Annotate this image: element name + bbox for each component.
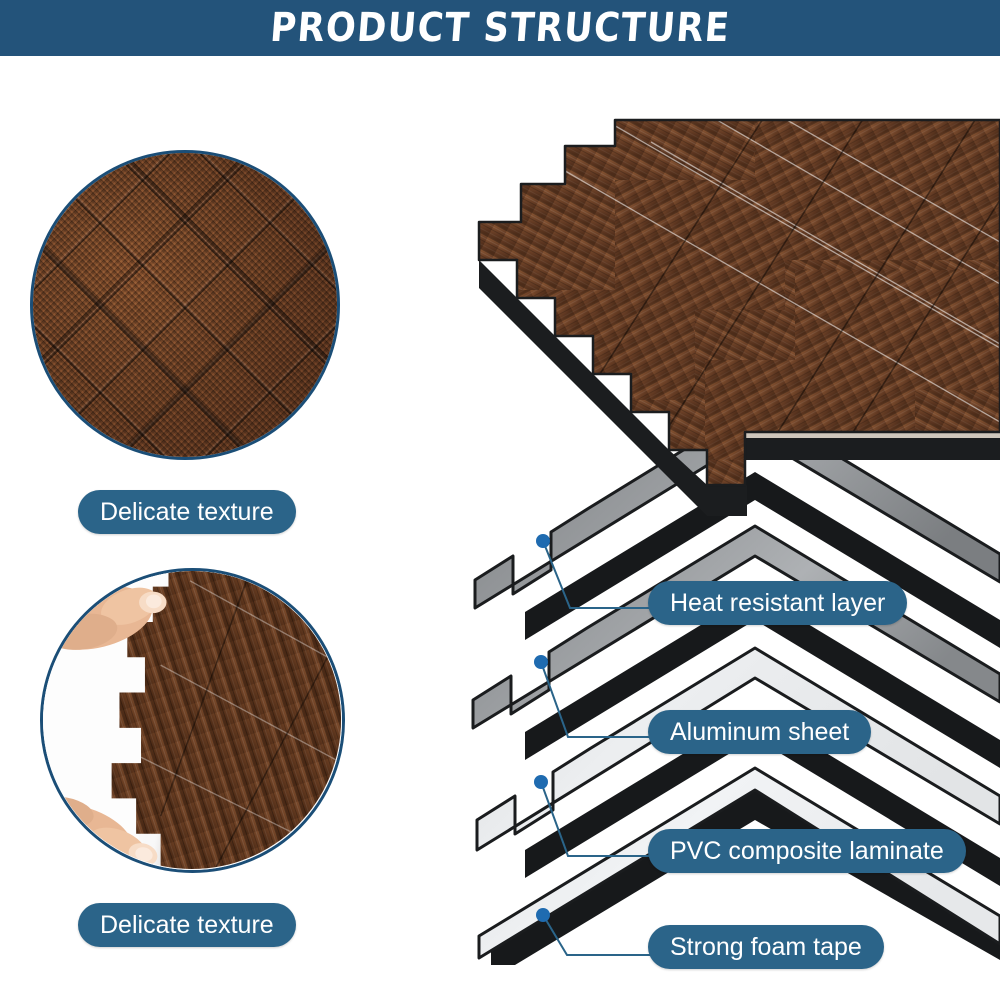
herringbone-parquet-texture-image: [30, 150, 340, 460]
peel-photo-image: [43, 571, 342, 870]
callout-heat-resistant-layer: Heat resistant layer: [648, 581, 907, 625]
feature-circle-texture: [30, 150, 340, 460]
layer-wear-wood: [455, 100, 1000, 520]
leader-dot-aluminum: [534, 655, 548, 669]
leader-dot-foam: [536, 908, 550, 922]
callout-pvc-composite-laminate: PVC composite laminate: [648, 829, 966, 873]
header-banner: PRODUCT STRUCTURE: [0, 0, 1000, 56]
page-title: PRODUCT STRUCTURE: [268, 5, 731, 51]
label-delicate-texture-top: Delicate texture: [78, 490, 296, 534]
label-delicate-texture-bottom: Delicate texture: [78, 903, 296, 947]
leader-dot-pvc: [534, 775, 548, 789]
feature-circle-peel: [40, 568, 345, 873]
leader-dot-heat: [536, 534, 550, 548]
callout-strong-foam-tape: Strong foam tape: [648, 925, 884, 969]
callout-aluminum-sheet: Aluminum sheet: [648, 710, 871, 754]
